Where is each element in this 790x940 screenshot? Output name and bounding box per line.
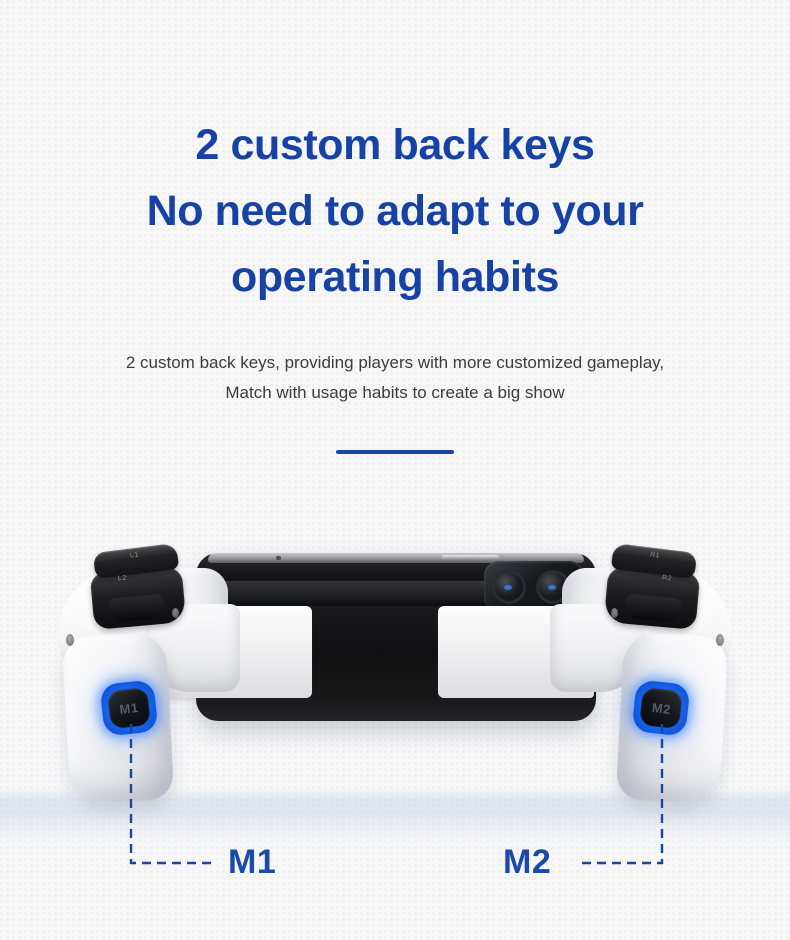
callout-label-m1: M1 bbox=[228, 843, 276, 882]
trigger-r1-label: R1 bbox=[650, 551, 661, 559]
vent-hole bbox=[716, 634, 724, 646]
vent-hole bbox=[172, 608, 179, 618]
page-title: 2 custom back keys No need to adapt to y… bbox=[0, 112, 790, 310]
subtitle-line-1: 2 custom back keys, providing players wi… bbox=[0, 348, 790, 378]
headline-line-1: 2 custom back keys bbox=[0, 112, 790, 178]
back-button-m2-text: M2 bbox=[651, 700, 672, 717]
page-subtitle: 2 custom back keys, providing players wi… bbox=[0, 348, 790, 408]
vent-hole bbox=[611, 608, 618, 618]
back-button-m2-face: M2 bbox=[639, 687, 683, 729]
phone-microphone bbox=[276, 556, 281, 560]
trigger-l1-label: L1 bbox=[130, 551, 140, 559]
product-scene: L1 L2 M1 R1 R2 M2 bbox=[0, 520, 790, 850]
subtitle-line-2: Match with usage habits to create a big … bbox=[0, 378, 790, 408]
controller-grip-right: R1 R2 M2 bbox=[558, 542, 738, 810]
back-button-m1-text: M1 bbox=[119, 700, 140, 717]
trigger-r2-label: R2 bbox=[662, 574, 673, 582]
product-feature-page: 2 custom back keys No need to adapt to y… bbox=[0, 0, 790, 940]
headline-line-2: No need to adapt to your bbox=[0, 178, 790, 244]
controller-grip-left: L1 L2 M1 bbox=[52, 542, 232, 810]
back-button-m1[interactable]: M1 bbox=[99, 679, 158, 736]
trigger-l2-label: L2 bbox=[118, 575, 127, 583]
vent-hole bbox=[66, 634, 74, 646]
callout-label-m2: M2 bbox=[503, 843, 551, 882]
camera-lens-icon bbox=[492, 570, 526, 604]
section-divider bbox=[336, 450, 454, 454]
back-button-m1-face: M1 bbox=[107, 687, 151, 729]
back-button-m2[interactable]: M2 bbox=[631, 679, 690, 736]
headline-line-3: operating habits bbox=[0, 244, 790, 310]
phone-speaker-grille bbox=[441, 555, 499, 560]
